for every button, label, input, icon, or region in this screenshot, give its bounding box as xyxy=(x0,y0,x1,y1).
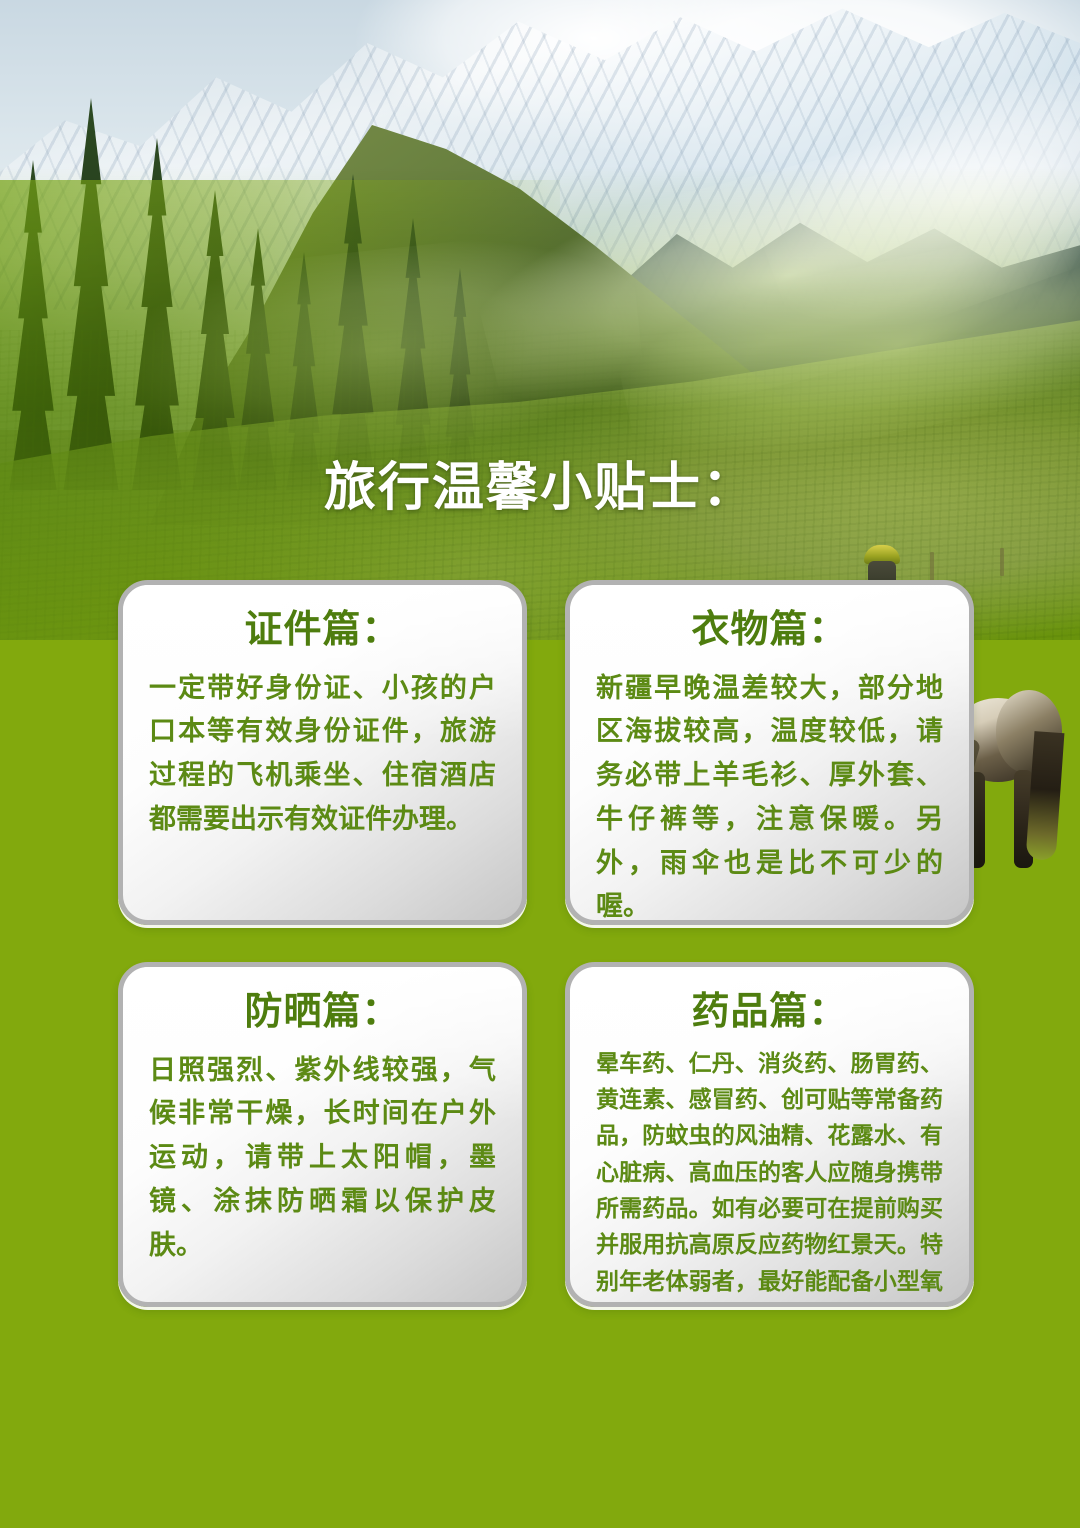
tip-card-medicine[interactable]: 药品篇： 晕车药、仁丹、消炎药、肠胃药、黄连素、感冒药、创可贴等常备药品，防蚊虫… xyxy=(565,962,974,1307)
card-body: 日照强烈、紫外线较强，气候非常干燥，长时间在户外运动，请带上太阳帽，墨镜、涂抹防… xyxy=(149,1049,496,1268)
card-heading: 药品篇： xyxy=(596,991,943,1035)
card-body: 一定带好身份证、小孩的户口本等有效身份证件，旅游过程的飞机乘坐、住宿酒店都需要出… xyxy=(149,667,496,842)
card-heading: 证件篇： xyxy=(149,609,496,653)
tip-card-documents[interactable]: 证件篇： 一定带好身份证、小孩的户口本等有效身份证件，旅游过程的飞机乘坐、住宿酒… xyxy=(118,580,527,925)
tip-card-sun-protection[interactable]: 防晒篇： 日照强烈、紫外线较强，气候非常干燥，长时间在户外运动，请带上太阳帽，墨… xyxy=(118,962,527,1307)
card-body: 晕车药、仁丹、消炎药、肠胃药、黄连素、感冒药、创可贴等常备药品，防蚊虫的风油精、… xyxy=(596,1045,943,1307)
travel-tips-poster: 旅行温馨小贴士： 证件篇： 一定带好身份证、小孩的户口本等有效身份证件，旅游过程… xyxy=(0,0,1080,1528)
tip-card-clothing[interactable]: 衣物篇： 新疆早晚温差较大，部分地区海拔较高，温度较低，请务必带上羊毛衫、厚外套… xyxy=(565,580,974,925)
card-body: 新疆早晚温差较大，部分地区海拔较高，温度较低，请务必带上羊毛衫、厚外套、牛仔裤等… xyxy=(596,667,943,925)
tip-card-grid: 证件篇： 一定带好身份证、小孩的户口本等有效身份证件，旅游过程的飞机乘坐、住宿酒… xyxy=(0,0,1080,1528)
card-heading: 防晒篇： xyxy=(149,991,496,1035)
card-heading: 衣物篇： xyxy=(596,609,943,653)
